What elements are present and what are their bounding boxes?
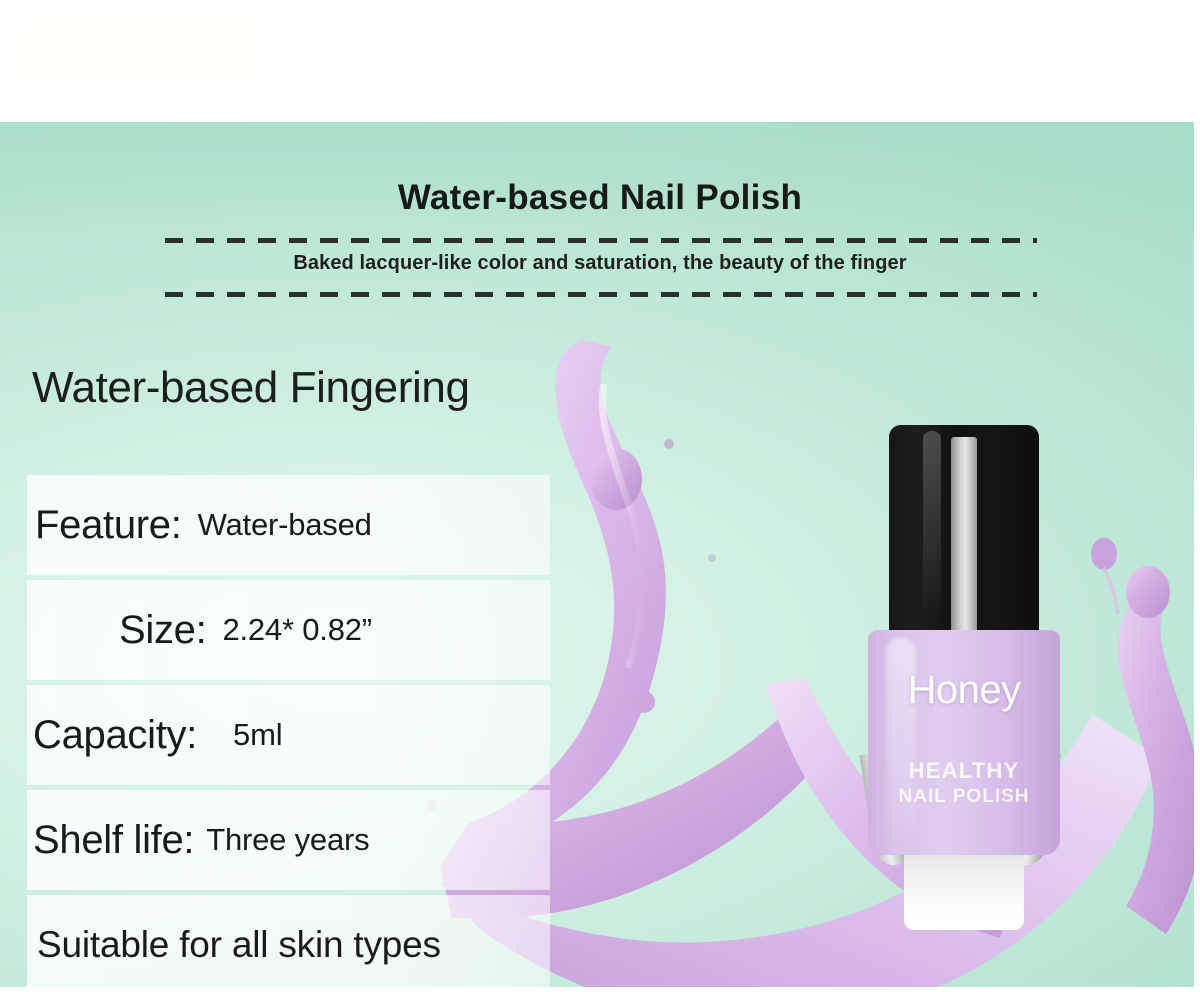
spec-label-size: Size: [119,608,206,653]
dashed-rule-bottom [165,292,1037,297]
bottle-brand-label: Honey [868,668,1060,713]
spec-row-shelf-life: Shelf life: Three years [27,790,550,890]
spec-value-feature: Water-based [198,507,372,543]
page-title: Water-based Nail Polish [0,178,1200,217]
bottle-body: Honey HEALTHY NAIL POLISH [868,630,1060,855]
section-heading: Water-based Fingering [32,363,470,413]
spec-value-shelf-life: Three years [206,822,369,858]
spec-value-capacity: 5ml [233,717,282,753]
spec-row-capacity: Capacity: 5ml [27,685,550,785]
spec-value-skin-types: Suitable for all skin types [37,924,441,966]
bottle-tagline-line1: HEALTHY [868,758,1060,784]
product-poster: Honey HEALTHY NAIL POLISH Water-based Na… [0,0,1200,992]
bottle-cap [889,425,1039,640]
spec-label-feature: Feature: [35,503,182,548]
spec-value-size: 2.24* 0.82” [222,612,371,648]
bottle-cap-stripe [951,437,977,637]
spec-label-shelf-life: Shelf life: [33,818,194,863]
spec-row-size: Size: 2.24* 0.82” [27,580,550,680]
headline-block: Water-based Nail Polish [0,178,1200,217]
bottle-tagline-line2: NAIL POLISH [868,786,1060,808]
specification-panel: Feature: Water-based Size: 2.24* 0.82” C… [27,475,550,992]
spec-row-feature: Feature: Water-based [27,475,550,575]
splash-droplet-head-right [1126,566,1170,618]
right-edge-border [1194,0,1200,992]
bottom-edge-border [0,987,1200,992]
splash-droplet-tiny-center [708,554,716,562]
top-white-band [0,0,1200,122]
spec-label-capacity: Capacity: [33,713,197,758]
splash-droplet-mid [633,691,655,713]
page-subtitle: Baked lacquer-like color and saturation,… [0,252,1200,275]
bottle-cap-gloss [923,431,941,621]
dashed-rule-top [165,238,1037,243]
top-band-tint [18,18,258,90]
splash-droplet-tiny-top [664,439,674,449]
nail-polish-bottle: Honey HEALTHY NAIL POLISH [860,425,1110,925]
spec-row-skin-types: Suitable for all skin types [27,895,550,992]
